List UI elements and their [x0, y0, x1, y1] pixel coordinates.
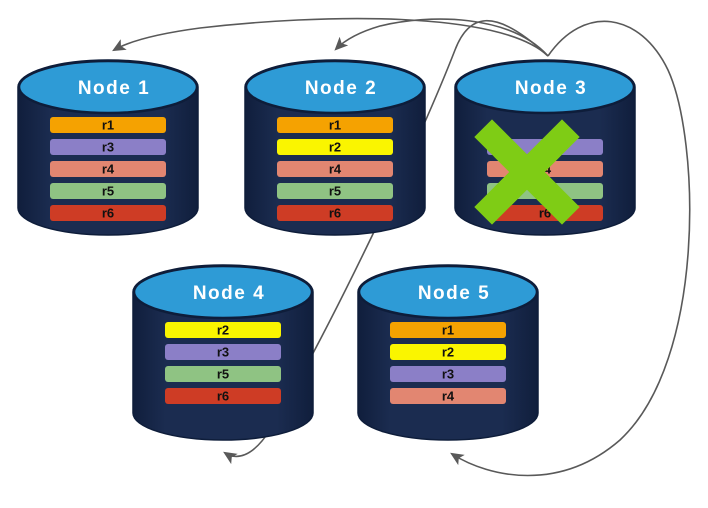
replica-label-r3: r3 [102, 139, 114, 154]
replica-label-r6: r6 [329, 205, 341, 220]
node-label: Node 4 [193, 283, 265, 304]
node-label: Node 1 [78, 78, 150, 99]
replica-label-r5: r5 [329, 183, 341, 198]
replica-label-r3: r3 [217, 344, 229, 359]
replica-label-r2: r2 [329, 139, 341, 154]
node-label: Node 2 [305, 78, 377, 99]
nodes-layer: Node 1r1r3r4r5r6Node 2r1r2r4r5r6Node 3r3… [18, 60, 635, 440]
replica-label-r5: r5 [217, 366, 229, 381]
replica-label-r1: r1 [442, 322, 454, 337]
replica-label-r2: r2 [217, 322, 229, 337]
replica-label-r4: r4 [329, 161, 342, 176]
replica-label-r6: r6 [217, 388, 229, 403]
replica-label-r6: r6 [102, 205, 114, 220]
replica-label-r5: r5 [102, 183, 114, 198]
node-label: Node 5 [418, 283, 490, 304]
replica-label-r1: r1 [102, 117, 114, 132]
replica-label-r4: r4 [442, 388, 455, 403]
database-node-2[interactable]: Node 2r1r2r4r5r6 [245, 60, 425, 235]
database-node-5[interactable]: Node 5r1r2r3r4 [358, 265, 538, 440]
replica-label-r4: r4 [102, 161, 115, 176]
replica-label-r1: r1 [329, 117, 341, 132]
database-node-1[interactable]: Node 1r1r3r4r5r6 [18, 60, 198, 235]
replication-diagram: Node 1r1r3r4r5r6Node 2r1r2r4r5r6Node 3r3… [0, 0, 708, 508]
diagram-canvas: Node 1r1r3r4r5r6Node 2r1r2r4r5r6Node 3r3… [0, 0, 708, 508]
database-node-4[interactable]: Node 4r2r3r5r6 [133, 265, 313, 440]
replica-label-r2: r2 [442, 344, 454, 359]
database-node-3[interactable]: Node 3r3r4r5r6 [455, 60, 635, 235]
replica-label-r3: r3 [442, 366, 454, 381]
node-label: Node 3 [515, 78, 587, 99]
edge-node-3-to-node-1 [114, 19, 548, 56]
